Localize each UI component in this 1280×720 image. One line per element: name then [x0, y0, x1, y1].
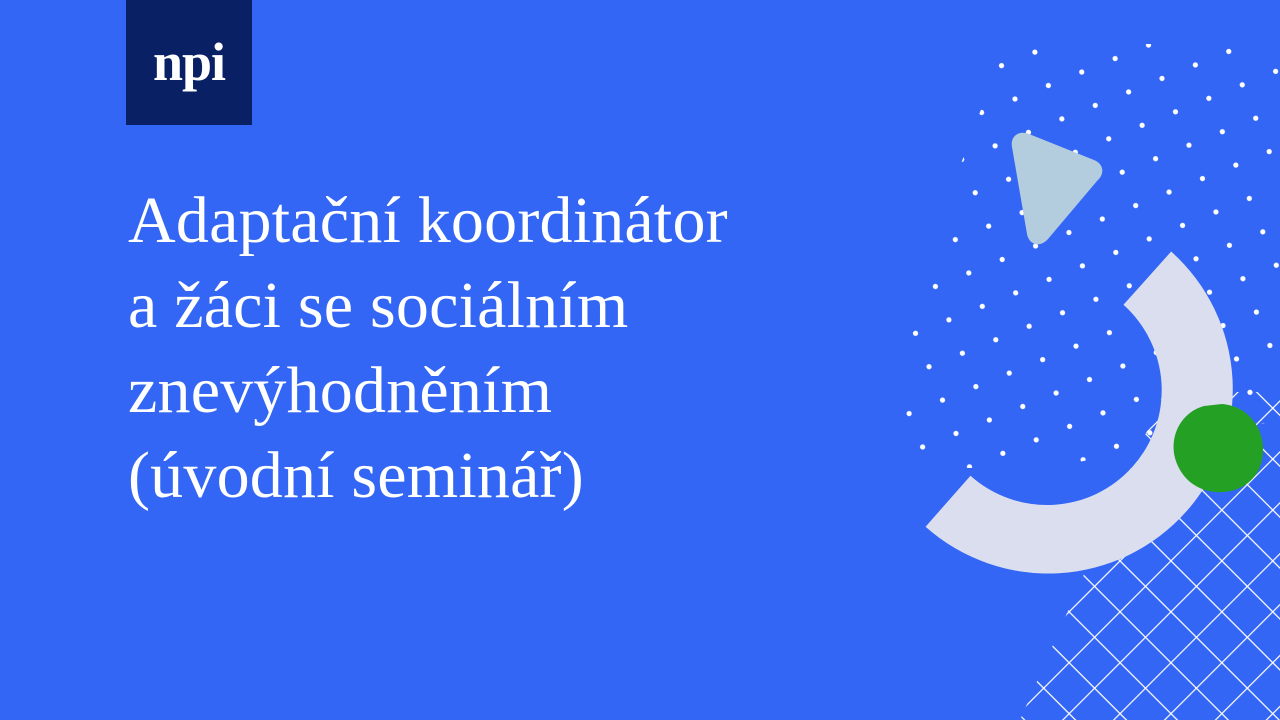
page-title: Adaptační koordinátor a žáci se sociální… — [128, 178, 948, 518]
npi-wordmark: npi — [153, 35, 225, 89]
slide-canvas: npi Adaptační koordinátor a žáci se soci… — [0, 0, 1280, 720]
title-line-3: znevýhodněním — [128, 348, 948, 433]
title-line-1: Adaptační koordinátor — [128, 178, 948, 263]
diagonal-lattice-mesh — [980, 370, 1280, 720]
title-line-2: a žáci se sociálním — [128, 263, 948, 348]
rounded-triangle-shape — [1012, 133, 1103, 245]
crescent-arc-shape — [900, 247, 1251, 587]
title-line-4: (úvodní seminář) — [128, 433, 948, 518]
npi-logo: npi — [126, 0, 252, 125]
green-blob-shape — [1174, 404, 1264, 492]
